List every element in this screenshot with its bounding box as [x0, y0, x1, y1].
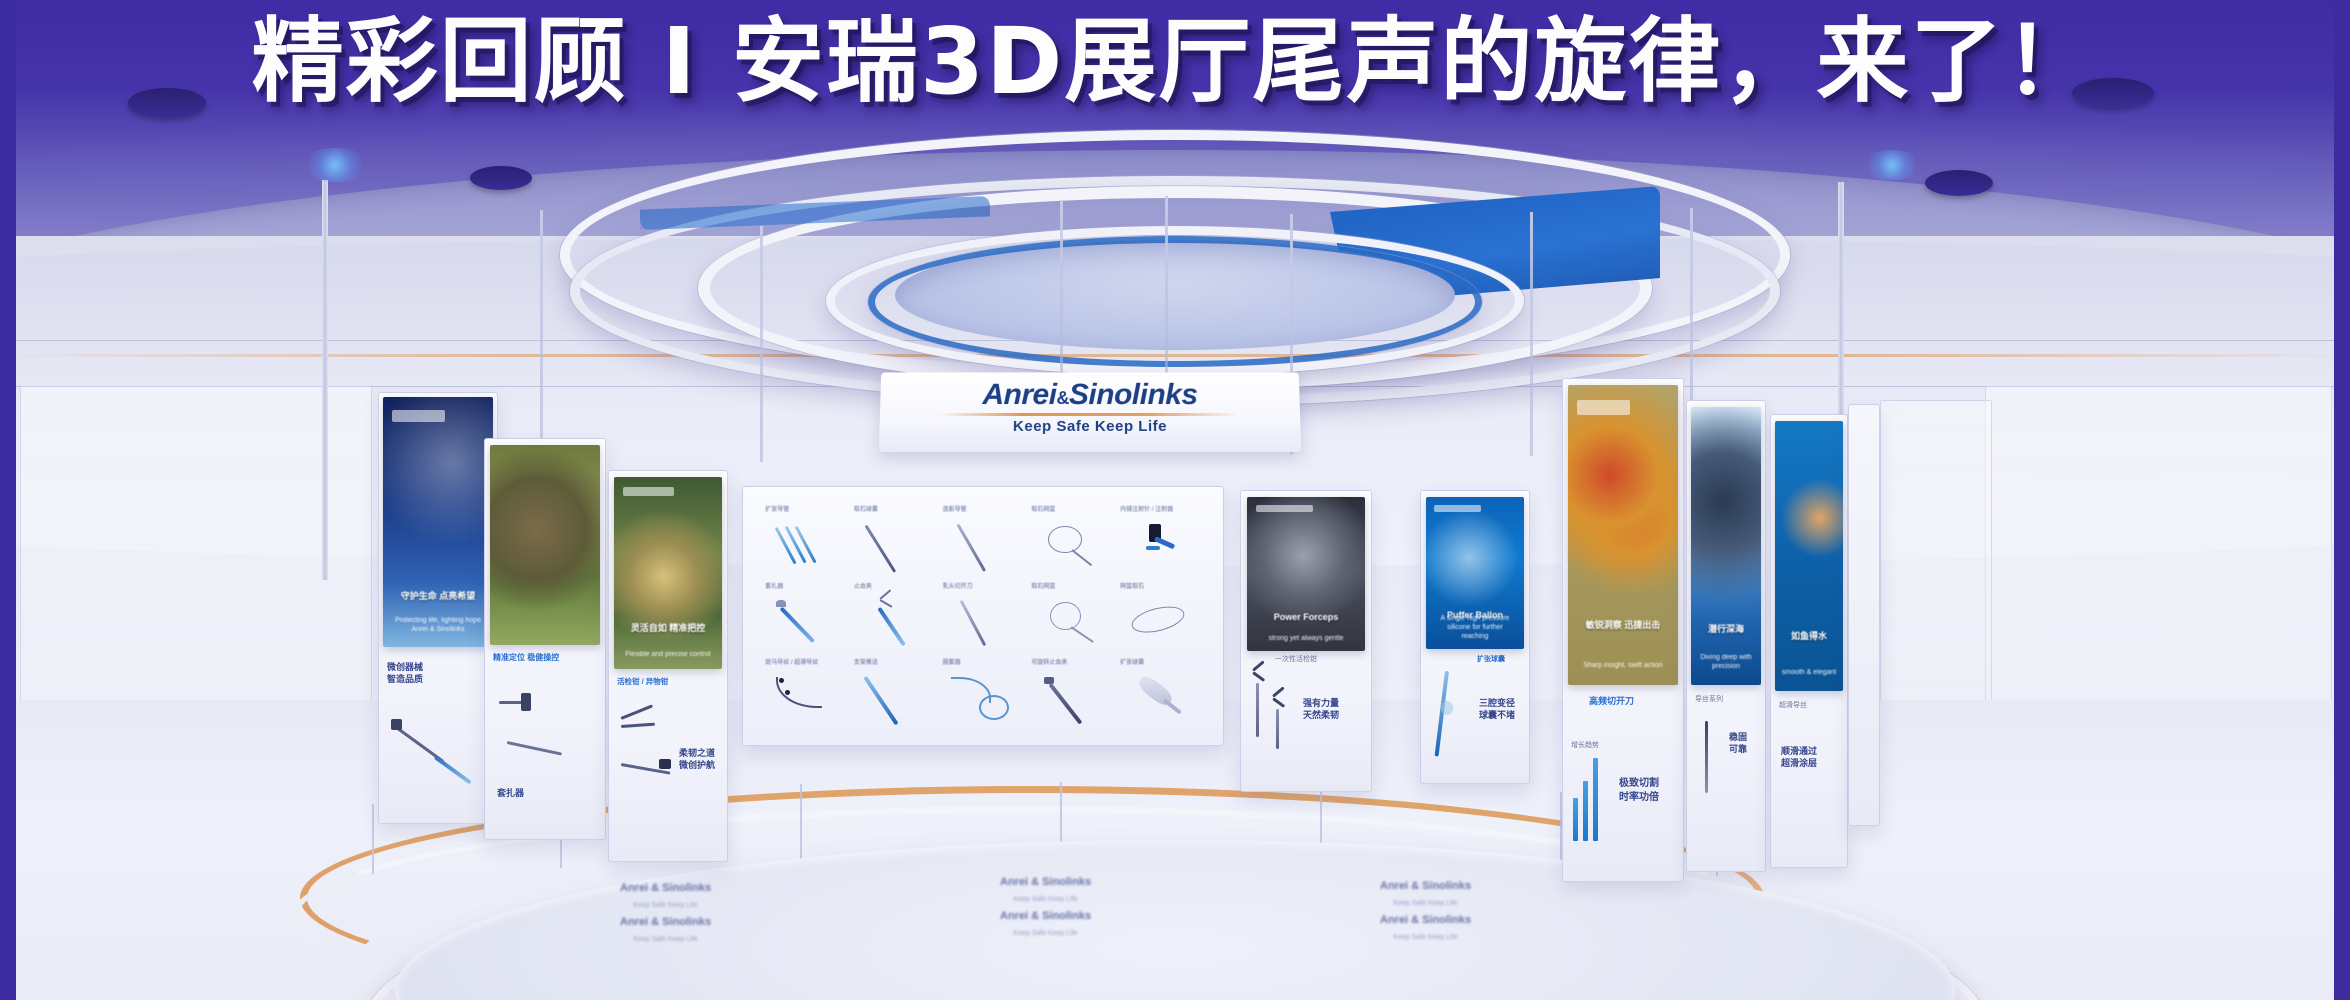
- instrument-label: 内镜注射针 / 注射器: [1120, 504, 1173, 513]
- instrument-label: 套扎器: [765, 581, 783, 590]
- panel-caption-sub: 扩张球囊: [1477, 655, 1505, 664]
- instrument-cell[interactable]: 取石网篮: [1028, 579, 1115, 653]
- support-rod: [1060, 200, 1063, 380]
- display-panel-puffer[interactable]: Puffer Ballon A single high pressure sil…: [1420, 490, 1530, 784]
- product-illustration-biopsy-forceps: [1249, 669, 1295, 769]
- display-panel-kangaroo[interactable]: 精准定位 稳健操控 套扎器: [484, 438, 606, 840]
- floor-text-main: Anrei & Sinolinks: [1000, 872, 1091, 893]
- instrument-cell[interactable]: 取石网篮: [1028, 502, 1115, 576]
- frame-edge-right: [2334, 0, 2350, 1000]
- dark-connector-icon: [1127, 522, 1189, 568]
- poster-subtitle: Flexible and precise control: [623, 650, 714, 659]
- instrument-label: 止血夹: [854, 581, 872, 590]
- poster-panda[interactable]: 守护生命 点亮希望 Protecting life, lighting hope…: [383, 397, 493, 647]
- instrument-label: 扩张导管: [765, 504, 789, 513]
- display-panel-panda[interactable]: 守护生命 点亮希望 Protecting life, lighting hope…: [378, 392, 498, 824]
- product-sublogo: 高频切开刀: [1589, 695, 1634, 707]
- support-rod: [1530, 212, 1533, 456]
- product-illustration-balloon-catheter: [1429, 671, 1475, 767]
- floor-text-main: Anrei & Sinolinks: [620, 878, 711, 899]
- floor-text-column: Anrei & Sinolinks Keep Safe Keep Life An…: [1000, 872, 1091, 940]
- instrument-cell[interactable]: 圈套器: [940, 655, 1027, 729]
- rail-post: [372, 804, 374, 874]
- instrument-cell[interactable]: 扩张导管: [762, 502, 849, 576]
- ceiling-light-icon: [470, 166, 532, 190]
- floor-text-sub: Keep Safe Keep Life: [1000, 893, 1091, 906]
- oval-snare-icon: [1127, 598, 1189, 644]
- instrument-cell[interactable]: 内镜注射针 / 注射器: [1117, 502, 1204, 576]
- floor-text-column: Anrei & Sinolinks Keep Safe Keep Life An…: [1380, 876, 1471, 944]
- poster-title: 如鱼得水: [1779, 631, 1839, 642]
- floor-text-sub: Keep Safe Keep Life: [1380, 897, 1471, 910]
- poster-brandbar: [1434, 505, 1481, 513]
- floor-text-sub: Keep Safe Keep Life: [1000, 927, 1091, 940]
- clip-applier-icon: [861, 598, 923, 644]
- poster-ocean[interactable]: 如鱼得水 smooth & elegant: [1775, 421, 1843, 691]
- ceiling-light-icon: [1925, 170, 1993, 196]
- support-rod: [322, 180, 328, 580]
- poster-penguin[interactable]: 潜行深海 Diving deep with precision: [1691, 407, 1761, 685]
- poster-brandbar: [1256, 505, 1313, 513]
- straight-probe-icon: [861, 522, 923, 568]
- poster-kangaroo[interactable]: [490, 445, 600, 645]
- thin-catheter-icon: [950, 522, 1012, 568]
- instrument-label: 取石网篮: [1031, 504, 1055, 513]
- poster-subtitle: smooth & elegant: [1780, 668, 1837, 677]
- product-illustration-probe: [391, 713, 483, 809]
- page-title: 精彩回顾 I 安瑞3D展厅尾声的旋律，来了！: [0, 14, 2350, 111]
- instrument-cell[interactable]: 扩张球囊: [1117, 655, 1204, 729]
- panel-caption: 微创器械 智造品质: [387, 661, 483, 685]
- instrument-label: 取石球囊: [854, 504, 878, 513]
- instrument-label: 支架推送: [854, 657, 878, 666]
- panel-caption: 强有力量 天然柔韧: [1303, 697, 1365, 721]
- panel-caption: 三腔变径 球囊不堵: [1479, 697, 1525, 721]
- panel-caption: 顺滑通过 超滑涂层: [1781, 745, 1837, 769]
- floor-text-main: Anrei & Sinolinks: [1380, 876, 1471, 897]
- triple-dilator-icon: [773, 522, 835, 568]
- ceiling-ring-inner-outline: [826, 226, 1524, 376]
- brand-wordmark: Anrei&Sinolinks: [880, 380, 1300, 410]
- brand-name-1: Anrei: [982, 378, 1056, 411]
- instrument-grid: 扩张导管 取石球囊 造影导管 取石网篮: [762, 502, 1204, 729]
- curved-guidewire-icon: [773, 675, 835, 721]
- instrument-label: 斑马导丝 / 超滑导丝: [765, 657, 818, 666]
- wire-loop-icon: [1039, 598, 1101, 644]
- instrument-label: 圈套器: [943, 657, 961, 666]
- instrument-cell[interactable]: 套扎器: [762, 579, 849, 653]
- poster-subtitle: A single high pressure silicone for furt…: [1434, 614, 1516, 641]
- needle-knife-icon: [950, 598, 1012, 644]
- instrument-cell[interactable]: 支架推送: [851, 655, 938, 729]
- instrument-label: 扩张球囊: [1120, 657, 1144, 666]
- double-loop-icon: [950, 675, 1012, 721]
- chart-bar: [1593, 758, 1598, 841]
- instrument-cell[interactable]: 止血夹: [851, 579, 938, 653]
- loop-basket-icon: [1039, 522, 1101, 568]
- rail-post: [800, 784, 802, 864]
- instrument-cell[interactable]: 造影导管: [940, 502, 1027, 576]
- instrument-cell[interactable]: 可旋转止血夹: [1028, 655, 1115, 729]
- brand-logo-banner: Anrei&Sinolinks Keep Safe Keep Life: [879, 372, 1302, 452]
- instrument-cell[interactable]: 网篮取石: [1117, 579, 1204, 653]
- support-rod: [760, 226, 763, 462]
- display-panel-frog[interactable]: 灵活自如 精准把控 Flexible and precise control 活…: [608, 470, 728, 862]
- floor-text-main: Anrei & Sinolinks: [1380, 910, 1471, 931]
- poster-subtitle: Diving deep with precision: [1697, 653, 1756, 671]
- poster-subtitle: Protecting life, lighting hope Anrei & S…: [392, 616, 484, 634]
- poster-badger[interactable]: Power Forceps strong yet always gentle: [1247, 497, 1365, 651]
- instrument-cell[interactable]: 取石球囊: [851, 502, 938, 576]
- display-panel-badger[interactable]: Power Forceps strong yet always gentle 一…: [1240, 490, 1372, 792]
- panel-caption-sub: 一次性活检钳: [1275, 655, 1317, 664]
- instrument-label: 乳头切开刀: [943, 581, 973, 590]
- display-panel-bee-eater[interactable]: 敏锐洞察 迅捷出击 Sharp insight, swift action 高频…: [1562, 378, 1684, 882]
- instrument-cell[interactable]: 乳头切开刀: [940, 579, 1027, 653]
- poster-subtitle: Sharp insight, swift action: [1577, 661, 1669, 670]
- support-rod: [540, 210, 543, 450]
- panel-caption: 极致切割 时率功倍: [1619, 777, 1677, 804]
- brand-swoosh-icon: [939, 413, 1242, 416]
- panel-caption: 稳固 可靠: [1729, 731, 1759, 755]
- poster-title: Power Forceps: [1254, 612, 1358, 623]
- floor-text-sub: Keep Safe Keep Life: [620, 899, 711, 912]
- brand-name-2: Sinolinks: [1069, 378, 1198, 411]
- growth-bar-chart: [1573, 755, 1598, 841]
- poster-puffer[interactable]: Puffer Ballon A single high pressure sil…: [1426, 497, 1524, 649]
- poster-title: 潜行深海: [1695, 624, 1757, 635]
- floor-text-sub: Keep Safe Keep Life: [1380, 931, 1471, 944]
- poster-title: 敏锐洞察 迅捷出击: [1575, 620, 1672, 631]
- rotatable-clip-icon: [1039, 675, 1101, 721]
- wall-signage-strip: [1848, 404, 1880, 826]
- poster-brandbar: [623, 487, 675, 497]
- instrument-label: 取石网篮: [1031, 581, 1055, 590]
- support-rod: [1165, 196, 1168, 386]
- panel-caption: 柔韧之道 微创护航: [679, 747, 723, 771]
- poster-bee-eater[interactable]: 敏锐洞察 迅捷出击 Sharp insight, swift action: [1568, 385, 1678, 685]
- product-illustration-guidewire: [1693, 721, 1723, 801]
- balloon-tip-icon: [1127, 675, 1189, 721]
- poster-frog[interactable]: 灵活自如 精准把控 Flexible and precise control: [614, 477, 722, 669]
- instrument-label: 造影导管: [943, 504, 967, 513]
- product-illustration-forceps: [619, 707, 679, 803]
- panel-caption-sub: 活检钳 / 异物钳: [617, 677, 668, 687]
- exhibition-hall-scene: Anrei&Sinolinks Keep Safe Keep Life 守护生命…: [0, 0, 2350, 1000]
- floor-text-column: Anrei & Sinolinks Keep Safe Keep Life An…: [620, 878, 711, 946]
- chart-bar: [1573, 798, 1578, 841]
- brand-ampersand: &: [1056, 388, 1069, 408]
- instrument-label: 可旋转止血夹: [1031, 657, 1067, 666]
- floor-text-sub: Keep Safe Keep Life: [620, 933, 711, 946]
- poster-brandbar: [1577, 400, 1630, 415]
- panel-caption: 精准定位 稳健操控: [493, 653, 559, 664]
- chart-axis-note: 增长趋势: [1571, 741, 1599, 750]
- display-panel-ocean[interactable]: 如鱼得水 smooth & elegant 超滑导丝 顺滑通过 超滑涂层: [1770, 414, 1848, 868]
- instrument-cell[interactable]: 斑马导丝 / 超滑导丝: [762, 655, 849, 729]
- chart-bar: [1583, 781, 1588, 841]
- panel-caption-sub: 超滑导丝: [1779, 701, 1807, 710]
- floor-text-main: Anrei & Sinolinks: [1000, 906, 1091, 927]
- frame-edge-left: [0, 0, 16, 1000]
- poster-title: 守护生命 点亮希望: [390, 591, 487, 602]
- product-illustration-ligator: [499, 683, 589, 773]
- hook-knife-icon: [773, 598, 835, 644]
- brand-tagline: Keep Safe Keep Life: [879, 418, 1300, 435]
- poster-subtitle: strong yet always gentle: [1256, 634, 1355, 643]
- product-catalog-board[interactable]: 扩张导管 取石球囊 造影导管 取石网篮: [742, 486, 1224, 746]
- instrument-label: 网篮取石: [1120, 581, 1144, 590]
- display-panel-penguin[interactable]: 潜行深海 Diving deep with precision 导丝系列 稳固 …: [1686, 400, 1766, 872]
- panel-caption-sub: 导丝系列: [1695, 695, 1723, 704]
- floor-text-main: Anrei & Sinolinks: [620, 912, 711, 933]
- blue-shaft-icon: [861, 675, 923, 721]
- poster-brandbar: [392, 410, 445, 423]
- poster-title: 灵活自如 精准把控: [620, 623, 715, 634]
- panel-caption-sub: 套扎器: [497, 787, 524, 799]
